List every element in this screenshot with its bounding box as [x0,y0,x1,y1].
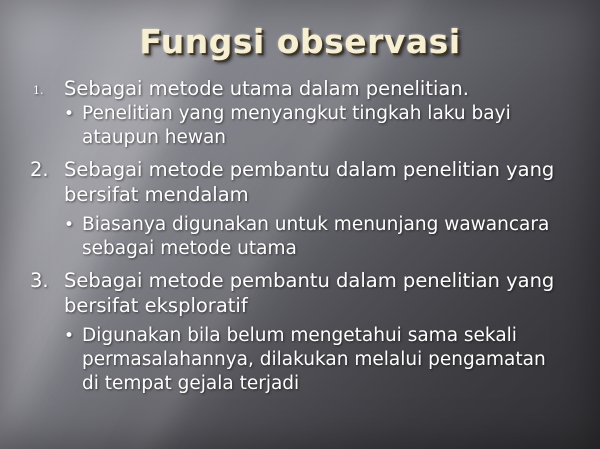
sub-list-item-text: Digunakan bila belum mengetahui sama sek… [82,325,546,394]
bullet-dot-icon: • [64,324,74,348]
list-item: 1. Sebagai metode utama dalam penelitian… [0,76,600,101]
sub-list-item-text: Biasanya digunakan untuk menunjang wawan… [82,214,549,259]
list-item: 2. Sebagai metode pembantu dalam penelit… [0,157,600,207]
sub-list-item: • Digunakan bila belum mengetahui sama s… [0,324,600,396]
bullet-dot-icon: • [64,213,74,237]
list-item-text: Sebagai metode pembantu dalam penelitian… [64,269,554,317]
bullet-dot-icon: • [64,102,74,126]
sub-list-item: • Penelitian yang menyangkut tingkah lak… [0,102,600,150]
list-item-marker: 2. [30,157,60,182]
slide-body-list: 1. Sebagai metode utama dalam penelitian… [0,76,600,397]
slide-title: Fungsi observasi [0,22,600,61]
list-item-text: Sebagai metode utama dalam penelitian. [64,77,469,100]
sub-list-item-text: Penelitian yang menyangkut tingkah laku … [82,103,511,148]
list-item: 3. Sebagai metode pembantu dalam penelit… [0,268,600,318]
list-item-marker: 3. [30,268,60,293]
presentation-slide: Fungsi observasi 1. Sebagai metode utama… [0,0,600,449]
list-item-text: Sebagai metode pembantu dalam penelitian… [64,158,554,206]
sub-list-item: • Biasanya digunakan untuk menunjang waw… [0,213,600,261]
list-item-marker: 1. [33,76,63,105]
